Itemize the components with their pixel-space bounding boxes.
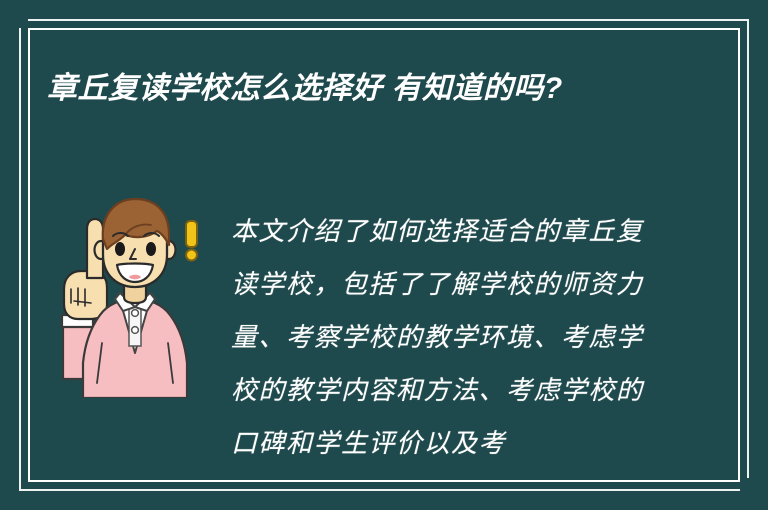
frame-corner-notch-top-left-h	[19, 19, 28, 23]
frame-corner-notch-bottom-right-v	[745, 478, 749, 487]
article-summary-text: 本文介绍了如何选择适合的章丘复读学校，包括了了解学校的师资力量、考察学校的教学环…	[231, 206, 655, 471]
pointing-hand-icon	[64, 219, 107, 319]
page-title: 章丘复读学校怎么选择好 有知道的吗?	[47, 64, 647, 114]
pointing-man-illustration	[45, 193, 225, 398]
frame-corner-notch-bottom-right-h	[740, 487, 749, 491]
frame-corner-notch-top-left-v	[19, 19, 23, 28]
exclamation-icon	[186, 221, 197, 261]
poster-canvas: 章丘复读学校怎么选择好 有知道的吗?	[0, 0, 768, 510]
